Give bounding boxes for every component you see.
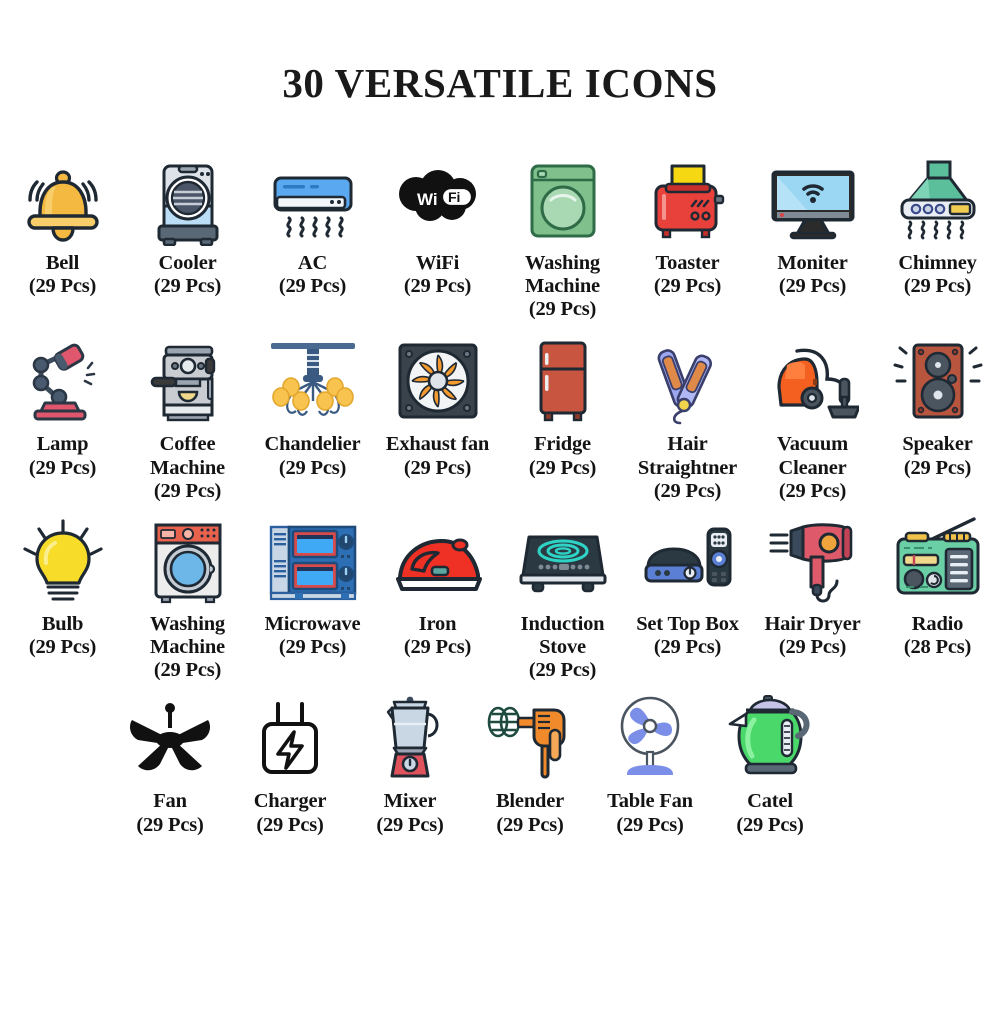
icon-cell-mixer[interactable]: Mixer (29 Pcs) [350, 688, 470, 836]
toaster-icon [638, 150, 738, 250]
bell-icon [13, 150, 113, 250]
icon-quantity: (29 Pcs) [154, 275, 221, 298]
icon-quantity: (29 Pcs) [254, 814, 327, 837]
icon-caption: Catel (29 Pcs) [736, 790, 803, 836]
fridge-icon [513, 331, 613, 431]
vacuum-cleaner-icon [763, 331, 863, 431]
icon-quantity: (29 Pcs) [736, 814, 803, 837]
icon-cell-wifi[interactable]: Wi Fi WiFi (29 Pcs) [375, 150, 500, 298]
icon-quantity: (29 Pcs) [136, 814, 203, 837]
icon-row: Fan (29 Pcs) Charger (29 Pcs) [0, 682, 1000, 836]
icon-cell-exhaust-fan[interactable]: Exhaust fan (29 Pcs) [375, 331, 500, 479]
icon-cell-hair-straightener[interactable]: Hair Straightner (29 Pcs) [625, 331, 750, 502]
icon-cell-chimney[interactable]: Chimney (29 Pcs) [875, 150, 1000, 298]
icon-quantity: (29 Pcs) [404, 275, 471, 298]
icon-label: Radio [904, 613, 971, 636]
icon-quantity: (29 Pcs) [500, 659, 625, 682]
icon-caption: Radio (28 Pcs) [904, 613, 971, 659]
icon-label: Moniter [777, 252, 847, 275]
icon-caption: Washing Machine (29 Pcs) [125, 613, 250, 682]
icon-cell-induction-stove[interactable]: Induction Stove (29 Pcs) [500, 511, 625, 682]
icon-caption: Coffee Machine (29 Pcs) [125, 433, 250, 502]
icon-row: Bell (29 Pcs) Coo [0, 132, 1000, 321]
icon-cell-microwave[interactable]: Microwave (29 Pcs) [250, 511, 375, 659]
icon-quantity: (29 Pcs) [496, 814, 564, 837]
icon-caption: Fan (29 Pcs) [136, 790, 203, 836]
icon-caption: Hair Straightner (29 Pcs) [625, 433, 750, 502]
set-top-box-icon [638, 511, 738, 611]
charger-icon [240, 688, 340, 788]
icon-quantity: (28 Pcs) [904, 636, 971, 659]
ceiling-fan-icon [120, 688, 220, 788]
icon-quantity: (29 Pcs) [654, 275, 721, 298]
washing-machine-icon [513, 150, 613, 250]
icon-caption: Exhaust fan (29 Pcs) [386, 433, 489, 479]
cooler-icon [138, 150, 238, 250]
icon-caption: Chimney (29 Pcs) [898, 252, 976, 298]
icon-quantity: (29 Pcs) [386, 457, 489, 480]
icon-cell-blender[interactable]: Blender (29 Pcs) [470, 688, 590, 836]
icon-quantity: (29 Pcs) [29, 636, 96, 659]
icon-caption: Bulb (29 Pcs) [29, 613, 96, 659]
icon-cell-washing-machine-2[interactable]: Washing Machine (29 Pcs) [125, 511, 250, 682]
icon-cell-washing-machine[interactable]: Washing Machine (29 Pcs) [500, 150, 625, 321]
icon-label: Vacuum Cleaner [750, 433, 875, 479]
icon-caption: Iron (29 Pcs) [404, 613, 471, 659]
icon-label: Bell [29, 252, 96, 275]
icon-quantity: (29 Pcs) [529, 457, 596, 480]
icon-cell-ac[interactable]: AC (29 Pcs) [250, 150, 375, 298]
icon-label: Speaker [902, 433, 972, 456]
icon-quantity: (29 Pcs) [500, 298, 625, 321]
icon-cell-cooler[interactable]: Cooler (29 Pcs) [125, 150, 250, 298]
icon-label: Coffee Machine [125, 433, 250, 479]
hair-dryer-icon [763, 511, 863, 611]
icon-cell-catel[interactable]: Catel (29 Pcs) [710, 688, 830, 836]
icon-label: Induction Stove [500, 613, 625, 659]
icon-cell-charger[interactable]: Charger (29 Pcs) [230, 688, 350, 836]
icon-caption: Blender (29 Pcs) [496, 790, 564, 836]
icon-cell-bell[interactable]: Bell (29 Pcs) [0, 150, 125, 298]
icon-caption: Set Top Box (29 Pcs) [636, 613, 739, 659]
icon-cell-bulb[interactable]: Bulb (29 Pcs) [0, 511, 125, 659]
icon-label: WiFi [404, 252, 471, 275]
icon-caption: Speaker (29 Pcs) [902, 433, 972, 479]
mixer-icon [360, 688, 460, 788]
icon-caption: Cooler (29 Pcs) [154, 252, 221, 298]
svg-text:Fi: Fi [448, 189, 460, 205]
icon-cell-monitor[interactable]: Moniter (29 Pcs) [750, 150, 875, 298]
icon-caption: Moniter (29 Pcs) [777, 252, 847, 298]
chimney-icon [888, 150, 988, 250]
icon-caption: Charger (29 Pcs) [254, 790, 327, 836]
icon-cell-hair-dryer[interactable]: Hair Dryer (29 Pcs) [750, 511, 875, 659]
icon-label: Hair Dryer [764, 613, 860, 636]
icon-quantity: (29 Pcs) [404, 636, 471, 659]
icon-cell-radio[interactable]: Radio (28 Pcs) [875, 511, 1000, 659]
page-title: 30 VERSATILE ICONS [0, 27, 1000, 104]
radio-icon [888, 511, 988, 611]
icon-cell-vacuum-cleaner[interactable]: Vacuum Cleaner (29 Pcs) [750, 331, 875, 502]
icon-quantity: (29 Pcs) [265, 457, 361, 480]
wifi-icon: Wi Fi [388, 150, 488, 250]
icon-label: Fan [136, 790, 203, 813]
icon-grid: Bell (29 Pcs) Coo [0, 132, 1000, 837]
icon-cell-table-fan[interactable]: Table Fan (29 Pcs) [590, 688, 710, 836]
icon-cell-chandelier[interactable]: Chandelier (29 Pcs) [250, 331, 375, 479]
chandelier-icon [263, 331, 363, 431]
icon-cell-iron[interactable]: Iron (29 Pcs) [375, 511, 500, 659]
icon-quantity: (29 Pcs) [636, 636, 739, 659]
icon-caption: Induction Stove (29 Pcs) [500, 613, 625, 682]
icon-label: Microwave [265, 613, 361, 636]
icon-label: Lamp [29, 433, 96, 456]
induction-stove-icon [513, 511, 613, 611]
washing-machine-icon [138, 511, 238, 611]
icon-caption: Hair Dryer (29 Pcs) [764, 613, 860, 659]
icon-label: Iron [404, 613, 471, 636]
icon-label: Chimney [898, 252, 976, 275]
icon-caption: Mixer (29 Pcs) [376, 790, 443, 836]
icon-quantity: (29 Pcs) [376, 814, 443, 837]
icon-label: Cooler [154, 252, 221, 275]
icon-caption: Table Fan (29 Pcs) [607, 790, 693, 836]
svg-text:Wi: Wi [417, 190, 438, 209]
icon-label: Fridge [529, 433, 596, 456]
icon-quantity: (29 Pcs) [125, 480, 250, 503]
iron-icon [388, 511, 488, 611]
ac-icon [263, 150, 363, 250]
icon-cell-coffee-machine[interactable]: Coffee Machine (29 Pcs) [125, 331, 250, 502]
icon-quantity: (29 Pcs) [898, 275, 976, 298]
icon-label: Catel [736, 790, 803, 813]
icon-label: Bulb [29, 613, 96, 636]
icon-label: Charger [254, 790, 327, 813]
bulb-icon [13, 511, 113, 611]
icon-label: AC [279, 252, 346, 275]
icon-label: Toaster [654, 252, 721, 275]
icon-quantity: (29 Pcs) [29, 457, 96, 480]
monitor-icon [763, 150, 863, 250]
icon-quantity: (29 Pcs) [279, 275, 346, 298]
icon-caption: WiFi (29 Pcs) [404, 252, 471, 298]
icon-label: Hair Straightner [625, 433, 750, 479]
icon-caption: Fridge (29 Pcs) [529, 433, 596, 479]
icon-cell-lamp[interactable]: Lamp (29 Pcs) [0, 331, 125, 479]
kettle-icon [720, 688, 820, 788]
icon-label: Washing Machine [125, 613, 250, 659]
icon-quantity: (29 Pcs) [902, 457, 972, 480]
lamp-icon [13, 331, 113, 431]
icon-quantity: (29 Pcs) [777, 275, 847, 298]
icon-caption: Toaster (29 Pcs) [654, 252, 721, 298]
icon-quantity: (29 Pcs) [607, 814, 693, 837]
icon-caption: AC (29 Pcs) [279, 252, 346, 298]
icon-caption: Chandelier (29 Pcs) [265, 433, 361, 479]
icon-quantity: (29 Pcs) [750, 480, 875, 503]
icon-quantity: (29 Pcs) [125, 659, 250, 682]
blender-icon [480, 688, 580, 788]
icon-row: Lamp (29 Pcs) [0, 321, 1000, 502]
hair-straightener-icon [638, 331, 738, 431]
icon-label: Blender [496, 790, 564, 813]
icon-quantity: (29 Pcs) [625, 480, 750, 503]
icon-quantity: (29 Pcs) [764, 636, 860, 659]
coffee-machine-icon [138, 331, 238, 431]
icon-cell-speaker[interactable]: Speaker (29 Pcs) [875, 331, 1000, 479]
icon-row: Bulb (29 Pcs) [0, 503, 1000, 682]
icon-quantity: (29 Pcs) [265, 636, 361, 659]
icon-caption: Bell (29 Pcs) [29, 252, 96, 298]
speaker-icon [888, 331, 988, 431]
icon-caption: Lamp (29 Pcs) [29, 433, 96, 479]
icon-cell-fridge[interactable]: Fridge (29 Pcs) [500, 331, 625, 479]
icon-caption: Vacuum Cleaner (29 Pcs) [750, 433, 875, 502]
microwave-icon [263, 511, 363, 611]
icon-quantity: (29 Pcs) [29, 275, 96, 298]
icon-label: Table Fan [607, 790, 693, 813]
icon-caption: Microwave (29 Pcs) [265, 613, 361, 659]
icon-caption: Washing Machine (29 Pcs) [500, 252, 625, 321]
icon-cell-set-top-box[interactable]: Set Top Box (29 Pcs) [625, 511, 750, 659]
icon-cell-toaster[interactable]: Toaster (29 Pcs) [625, 150, 750, 298]
icon-label: Mixer [376, 790, 443, 813]
icon-label: Set Top Box [636, 613, 739, 636]
table-fan-icon [600, 688, 700, 788]
icon-label: Chandelier [265, 433, 361, 456]
icon-cell-fan[interactable]: Fan (29 Pcs) [110, 688, 230, 836]
icon-label: Washing Machine [500, 252, 625, 298]
icon-label: Exhaust fan [386, 433, 489, 456]
exhaust-fan-icon [388, 331, 488, 431]
